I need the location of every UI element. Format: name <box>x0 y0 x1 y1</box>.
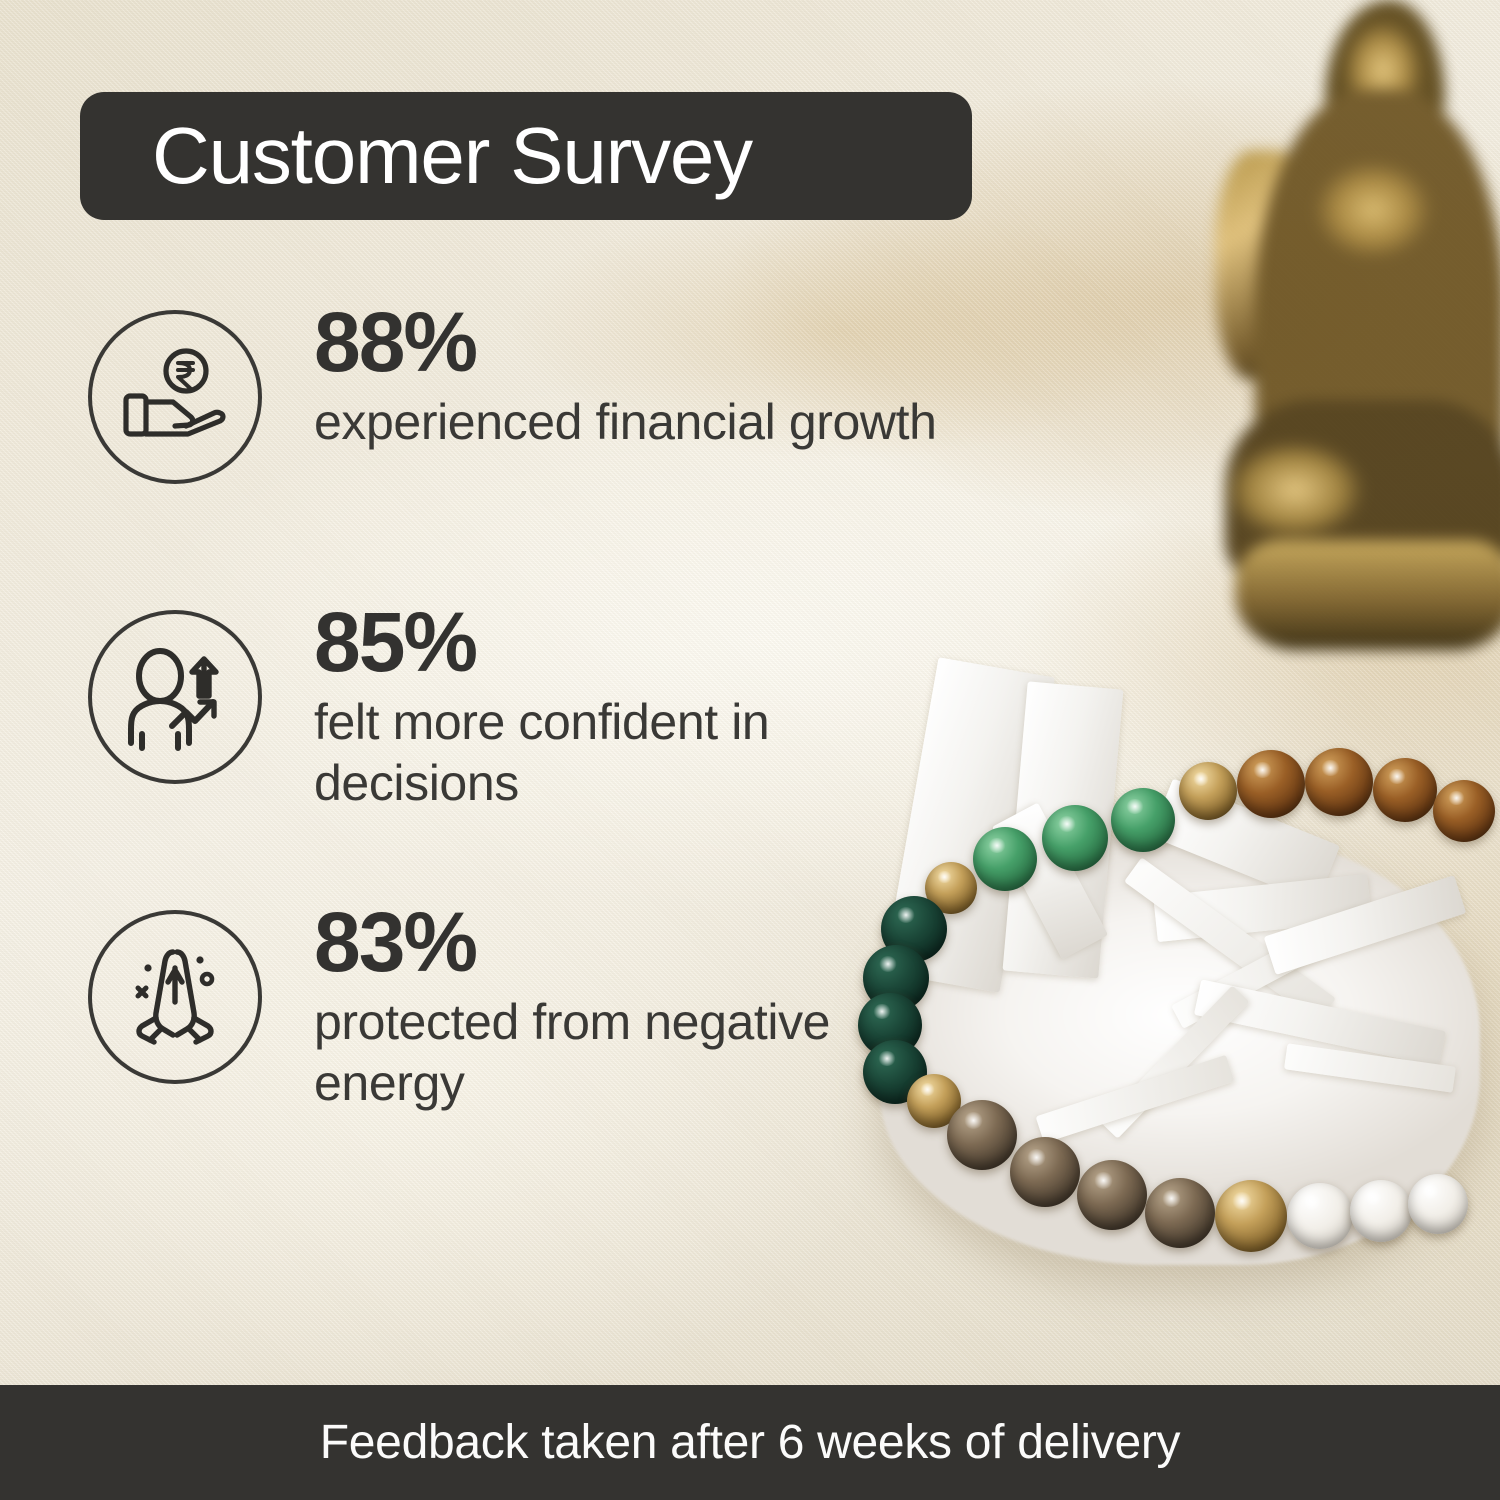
stat-label: felt more confident in decisions <box>314 692 974 814</box>
stat-row-financial-growth: 88% experienced financial growth <box>88 300 988 600</box>
brass-deity-statue-image <box>1215 0 1500 640</box>
stat-value: 83% <box>314 900 974 986</box>
bead <box>1077 1160 1147 1230</box>
bead <box>1111 788 1175 852</box>
stat-value: 85% <box>314 600 974 686</box>
stat-text-block: 83% protected from negative energy <box>314 900 974 1114</box>
stat-label: protected from negative energy <box>314 992 974 1114</box>
stat-text-block: 88% experienced financial growth <box>314 300 937 453</box>
survey-stats-list: 88% experienced financial growth 85% fel… <box>88 300 988 1200</box>
person-with-growth-arrow-icon <box>88 610 262 784</box>
stat-label: experienced financial growth <box>314 392 937 453</box>
bead <box>1287 1183 1353 1249</box>
footer-bar: Feedback taken after 6 weeks of delivery <box>0 1385 1500 1500</box>
bead <box>1179 762 1237 820</box>
bead <box>1408 1174 1468 1234</box>
praying-hands-namaste-icon <box>88 910 262 1084</box>
bead <box>1373 758 1437 822</box>
stat-text-block: 85% felt more confident in decisions <box>314 600 974 814</box>
footer-note: Feedback taken after 6 weeks of delivery <box>320 1415 1180 1470</box>
stat-row-protection: 83% protected from negative energy <box>88 900 988 1200</box>
bead <box>1350 1180 1412 1242</box>
bead <box>1215 1180 1287 1252</box>
statue-base <box>1235 540 1500 650</box>
stat-value: 88% <box>314 300 937 386</box>
stat-row-confidence: 85% felt more confident in decisions <box>88 600 988 900</box>
bead <box>1145 1178 1215 1248</box>
bead <box>1433 780 1495 842</box>
bead <box>1305 748 1373 816</box>
hand-holding-rupee-coin-icon <box>88 310 262 484</box>
bead <box>1010 1137 1080 1207</box>
bead <box>1042 805 1108 871</box>
page-title: Customer Survey <box>152 116 752 196</box>
page-title-badge: Customer Survey <box>80 92 972 220</box>
bead <box>1237 750 1305 818</box>
